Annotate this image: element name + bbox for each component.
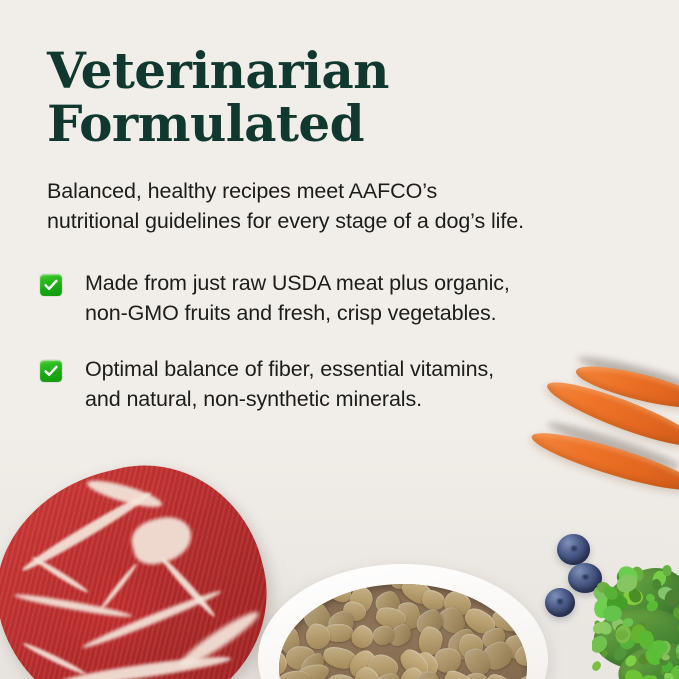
list-item-label: Made from just raw USDA meat plus organi… [85, 268, 510, 328]
green-check-icon [40, 360, 62, 382]
bullet-2-line-1: Optimal balance of fiber, essential vita… [85, 357, 494, 381]
bullet-2-line-2: and natural, non-synthetic minerals. [85, 384, 494, 414]
product-feature-image: Veterinarian Formulated Balanced, health… [0, 0, 679, 679]
bullet-1-line-2: non-GMO fruits and fresh, crisp vegetabl… [85, 298, 510, 328]
lede-line-2: nutritional guidelines for every stage o… [47, 206, 657, 236]
kale-ruffle [662, 565, 672, 576]
kibble-bowl-image [258, 556, 558, 679]
kibble-piece [484, 673, 511, 679]
carrots-image [528, 362, 679, 537]
headline-line-2: Formulated [47, 97, 647, 150]
raw-ribeye-steak [0, 440, 292, 679]
page-title: Veterinarian Formulated [47, 44, 647, 150]
kale-image [592, 556, 679, 679]
list-item-label: Optimal balance of fiber, essential vita… [85, 354, 494, 414]
kibble-piece [508, 669, 527, 679]
green-check-icon [40, 274, 62, 296]
headline-line-1: Veterinarian [47, 41, 389, 100]
lede-line-1: Balanced, healthy recipes meet AAFCO’s [47, 179, 437, 203]
lede-paragraph: Balanced, healthy recipes meet AAFCO’s n… [47, 176, 657, 236]
kale-ruffle [592, 659, 602, 671]
bullet-1-line-1: Made from just raw USDA meat plus organi… [85, 271, 510, 295]
white-bowl [258, 564, 548, 679]
list-item: Made from just raw USDA meat plus organi… [40, 268, 660, 328]
kibble-fill [279, 584, 527, 679]
blueberry [557, 534, 590, 565]
